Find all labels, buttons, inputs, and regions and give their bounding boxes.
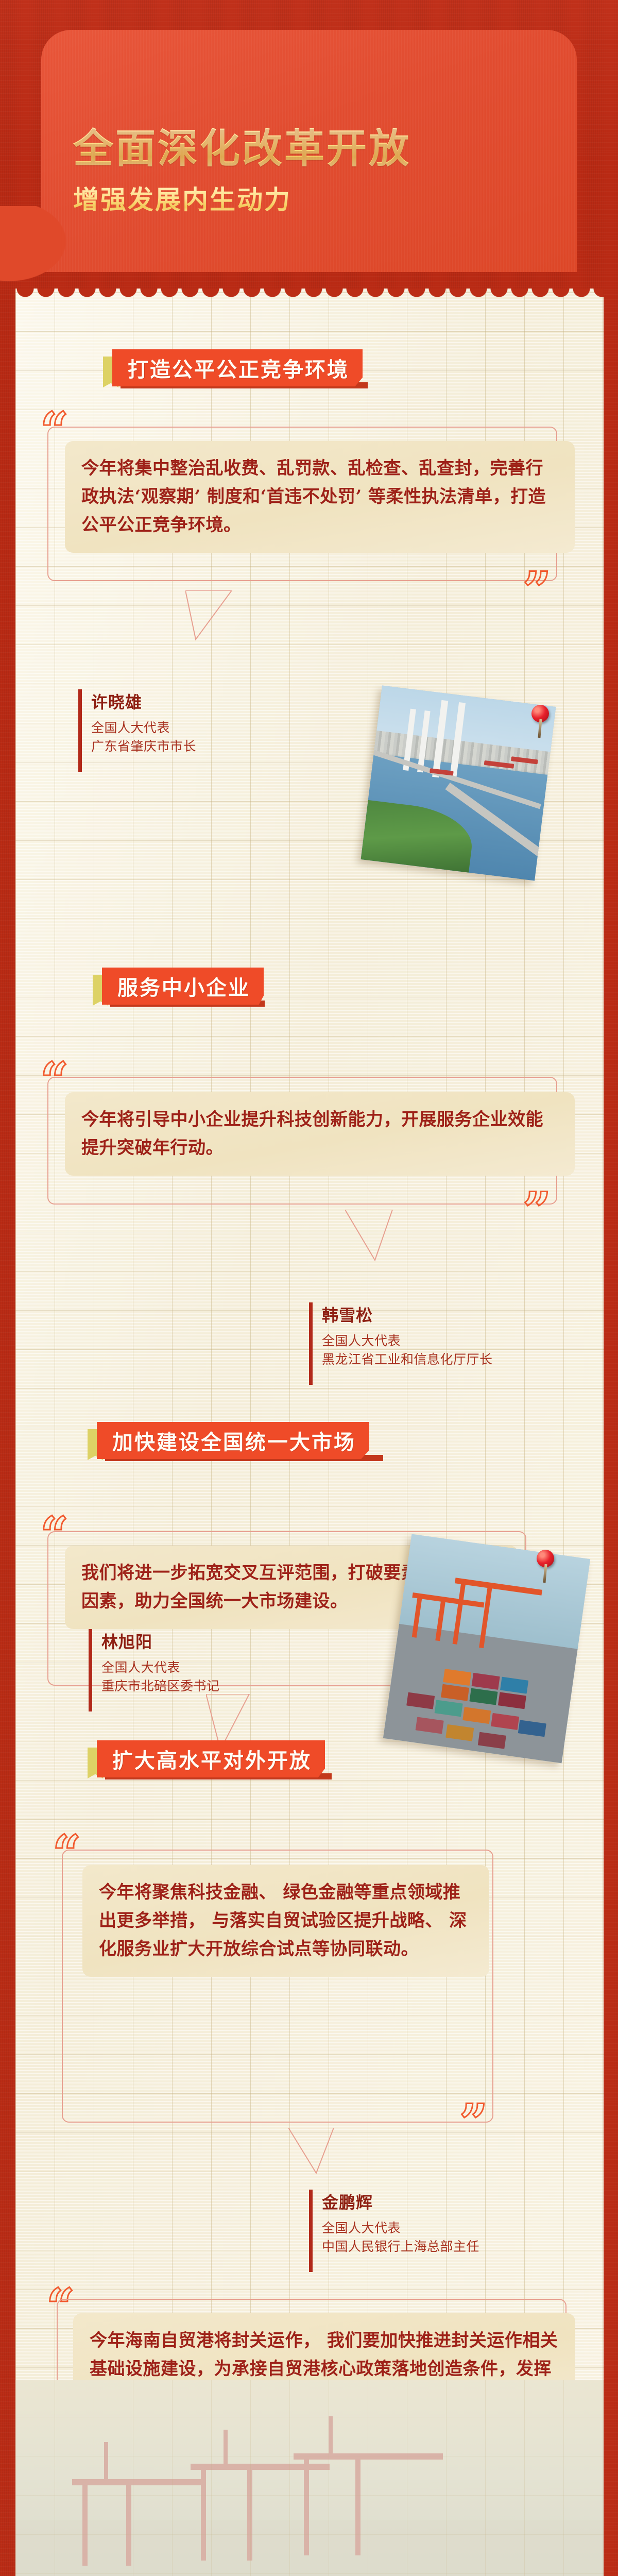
push-pin-icon-2	[537, 1550, 554, 1567]
photo-container-port	[383, 1534, 590, 1764]
page-title: 全面深化改革开放	[73, 116, 411, 174]
photo-port-panorama	[15, 2380, 604, 2576]
attribution-accent-bar	[78, 689, 82, 772]
quote-text-2: 今年将引导中小企业提升科技创新能力，开展服务企业效能提升突破年行动。	[81, 1106, 558, 1162]
speaker-role-3-line2: 重庆市北碚区委书记	[101, 1677, 220, 1696]
quote-bubble-4: 今年将聚焦科技金融、 绿色金融等重点领域推出更多举措， 与落实自贸试验区提升战略…	[82, 1865, 489, 1977]
banner-3: 加快建设全国统一大市场	[97, 1422, 369, 1459]
photo-paper-overlay	[15, 2380, 604, 2576]
quote-tail-4	[288, 2128, 350, 2179]
attribution-2: 韩雪松 全国人大代表 黑龙江省工业和信息化厅厅长	[309, 1302, 493, 1385]
speaker-role-2-line2: 黑龙江省工业和信息化厅厅长	[322, 1351, 493, 1369]
speaker-role-1-line1: 全国人大代表	[91, 719, 196, 738]
attribution-4: 金鹏辉 全国人大代表 中国人民银行上海总部主任	[309, 2190, 479, 2272]
banner-1-label: 打造公平公正竞争环境	[128, 353, 349, 383]
quote-tail-1	[185, 590, 242, 647]
poster-background: 全面深化改革开放 增强发展内生动力 打造公平公正竞争环境 “ 今年将集中整治乱收…	[0, 0, 618, 2576]
banner-3-label: 加快建设全国统一大市场	[112, 1426, 356, 1455]
speaker-name-1: 许晓雄	[91, 689, 196, 713]
banner-2-label: 服务中小企业	[117, 971, 250, 1001]
quote-tail-2	[345, 1210, 407, 1266]
note-paper-sheet: 打造公平公正竞争环境 “ 今年将集中整治乱收费、乱罚款、乱检查、乱查封，完善行政…	[15, 289, 604, 2576]
drapery-decoration	[41, 226, 577, 272]
drapery-left-decoration	[0, 206, 88, 294]
attribution-accent-bar	[309, 2190, 313, 2272]
quote-text-4: 今年将聚焦科技金融、 绿色金融等重点领域推出更多举措， 与落实自贸试验区提升战略…	[99, 1878, 473, 1963]
photo-suspension-bridge	[361, 686, 556, 881]
close-quote-icon-4: ”	[459, 2103, 485, 2143]
attribution-1: 许晓雄 全国人大代表 广东省肇庆市市长	[78, 689, 196, 772]
attribution-3: 林旭阳 全国人大代表 重庆市北碚区委书记	[89, 1629, 220, 1711]
push-pin-icon-1	[531, 705, 549, 722]
close-quote-icon-2: ”	[523, 1191, 548, 1231]
banner-2: 服务中小企业	[102, 968, 264, 1005]
quote-bubble-1: 今年将集中整治乱收费、乱罚款、乱检查、乱查封，完善行政执法‘观察期’ 制度和‘首…	[65, 441, 575, 553]
speaker-role-3-line1: 全国人大代表	[101, 1659, 220, 1677]
quote-text-1: 今年将集中整治乱收费、乱罚款、乱检查、乱查封，完善行政执法‘观察期’ 制度和‘首…	[81, 454, 558, 539]
speaker-role-4-line1: 全国人大代表	[322, 2219, 479, 2238]
page-subtitle: 增强发展内生动力	[73, 179, 291, 216]
speaker-role-2-line1: 全国人大代表	[322, 1332, 493, 1351]
attribution-accent-bar	[89, 1629, 92, 1711]
speaker-role-1-line2: 广东省肇庆市市长	[91, 738, 196, 756]
banner-4-label: 扩大高水平对外开放	[112, 1744, 312, 1774]
quote-bubble-2: 今年将引导中小企业提升科技创新能力，开展服务企业效能提升突破年行动。	[65, 1092, 575, 1176]
banner-4: 扩大高水平对外开放	[97, 1740, 325, 1777]
perforated-top-edge	[15, 289, 604, 302]
speaker-name-2: 韩雪松	[322, 1302, 493, 1326]
close-quote-icon-1: ”	[523, 571, 548, 611]
poster-header: 全面深化改革开放 增强发展内生动力	[41, 30, 577, 272]
banner-1: 打造公平公正竞争环境	[112, 349, 363, 386]
speaker-name-4: 金鹏辉	[322, 2190, 479, 2213]
speaker-name-3: 林旭阳	[101, 1629, 220, 1653]
speaker-role-4-line2: 中国人民银行上海总部主任	[322, 2238, 479, 2257]
attribution-accent-bar	[309, 1302, 313, 1385]
